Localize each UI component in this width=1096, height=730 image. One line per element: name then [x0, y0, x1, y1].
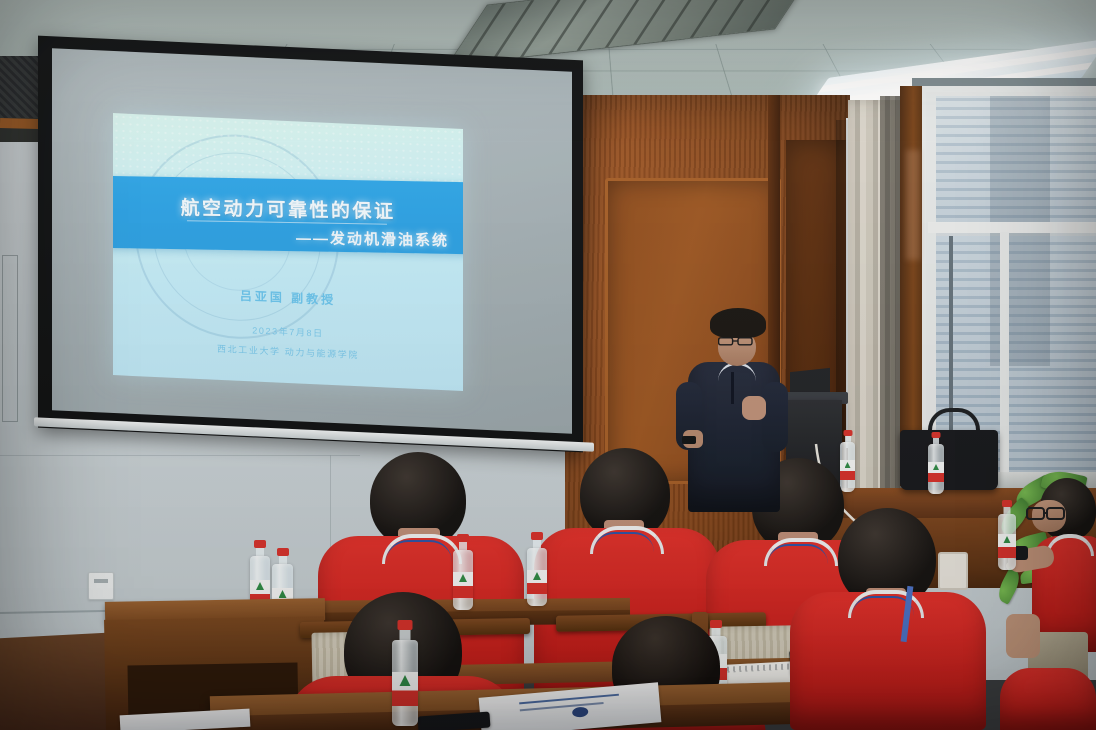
person-collar-stripe: [594, 532, 654, 552]
hair-clip: [938, 552, 968, 590]
lecture-room-photo: 航空动力可靠性的保证 ——发动机滑油系统 吕亚国 副教授 2023年7月8日 西…: [0, 0, 1096, 730]
water-bottle[interactable]: [998, 500, 1016, 570]
presentation-clicker[interactable]: [682, 436, 696, 444]
water-bottle[interactable]: [527, 532, 547, 606]
presenter-right-hand: [742, 396, 766, 420]
window-mullion-horizontal: [928, 222, 1096, 233]
person-collar-stripe: [768, 544, 828, 564]
person-collar-stripe: [386, 540, 452, 562]
window-reflection: [906, 150, 920, 260]
wall-seam: [0, 455, 360, 456]
window-wood-jamb: [900, 86, 922, 486]
water-bottle[interactable]: [453, 534, 473, 610]
wall-frame-outline: [2, 255, 18, 422]
person-leg: [1006, 614, 1040, 658]
water-bottle[interactable]: [392, 620, 418, 726]
glasses-icon: [1026, 506, 1070, 522]
glasses-icon: [718, 337, 754, 346]
presenter-right-arm: [762, 382, 788, 452]
person-shirt: [1000, 668, 1096, 730]
water-bottle[interactable]: [840, 430, 855, 492]
smartwatch: [1014, 546, 1028, 560]
presenter-hair: [710, 308, 766, 338]
presenter-placket: [731, 372, 734, 404]
window-mullion-vertical: [1000, 232, 1009, 480]
wall-power-outlet[interactable]: [88, 572, 114, 600]
projected-slide: 航空动力可靠性的保证 ——发动机滑油系统 吕亚国 副教授 2023年7月8日 西…: [113, 113, 463, 391]
water-bottle[interactable]: [928, 432, 944, 494]
